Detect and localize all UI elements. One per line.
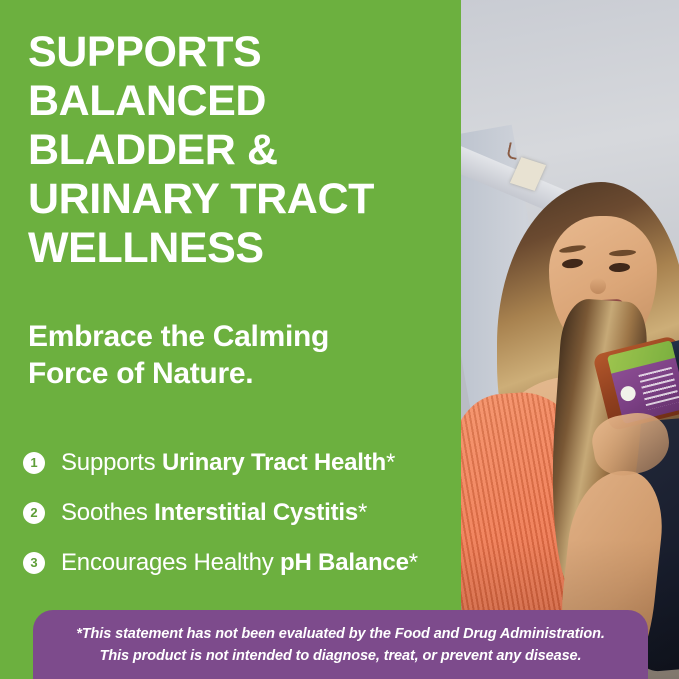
benefit-text: Encourages Healthy pH Balance* — [61, 550, 418, 576]
lifestyle-photo — [461, 0, 679, 679]
benefit-text: Supports Urinary Tract Health* — [61, 450, 395, 476]
list-item: 1 Supports Urinary Tract Health* — [23, 438, 459, 488]
benefit-prefix: Supports — [61, 449, 162, 476]
benefit-text: Soothes Interstitial Cystitis* — [61, 500, 367, 526]
photo-nose — [590, 278, 606, 294]
benefit-number-badge: 1 — [23, 452, 45, 474]
list-item: 3 Encourages Healthy pH Balance* — [23, 538, 459, 588]
benefit-prefix: Encourages Healthy — [61, 549, 280, 576]
list-item: 2 Soothes Interstitial Cystitis* — [23, 488, 459, 538]
benefit-emphasis: pH Balance — [280, 549, 409, 576]
green-content-panel: SUPPORTS BALANCED BLADDER & URINARY TRAC… — [0, 0, 461, 679]
disclaimer-line-2: This product is not intended to diagnose… — [100, 645, 582, 667]
subheading: Embrace the Calming Force of Nature. — [28, 318, 448, 392]
benefit-asterisk: * — [358, 499, 367, 526]
page-title: SUPPORTS BALANCED BLADDER & URINARY TRAC… — [28, 28, 448, 273]
benefit-number-badge: 3 — [23, 552, 45, 574]
product-benefits-infographic: SUPPORTS BALANCED BLADDER & URINARY TRAC… — [0, 0, 679, 679]
fda-disclaimer-bar: *This statement has not been evaluated b… — [33, 610, 648, 679]
disclaimer-line-1: *This statement has not been evaluated b… — [76, 623, 605, 645]
benefit-list: 1 Supports Urinary Tract Health* 2 Sooth… — [23, 438, 459, 588]
benefit-asterisk: * — [386, 449, 395, 476]
benefit-number-badge: 2 — [23, 502, 45, 524]
benefit-asterisk: * — [409, 549, 418, 576]
benefit-emphasis: Urinary Tract Health — [162, 449, 386, 476]
benefit-emphasis: Interstitial Cystitis — [154, 499, 358, 526]
benefit-prefix: Soothes — [61, 499, 154, 526]
